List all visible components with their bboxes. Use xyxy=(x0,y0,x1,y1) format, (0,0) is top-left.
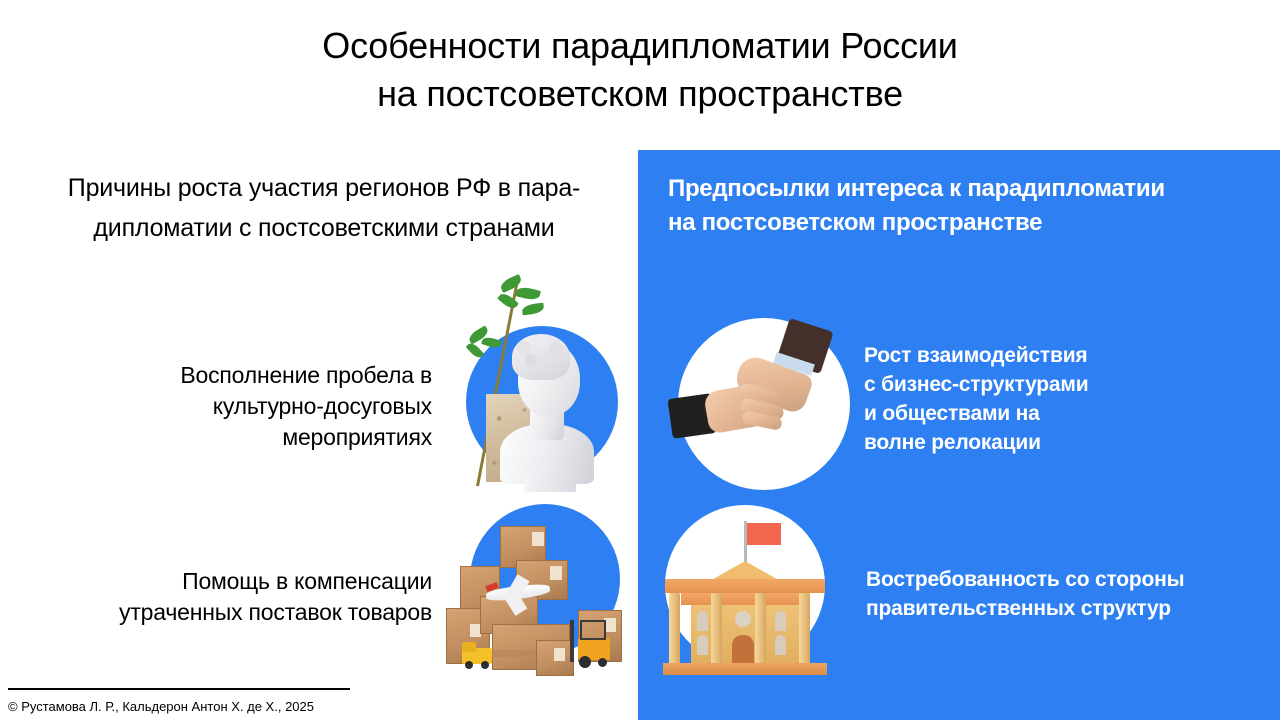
building-column-icon xyxy=(799,593,810,665)
left-item-2-line-2: утраченных поставок товаров xyxy=(40,597,432,628)
building-window-icon xyxy=(697,635,708,655)
left-item-1-line-3: мероприятиях xyxy=(60,422,432,453)
building-window-icon xyxy=(697,611,708,631)
left-column-heading: Причины роста участия регионов РФ в пара… xyxy=(28,168,620,248)
plant-leaf-icon xyxy=(521,303,544,316)
plant-leaf-icon xyxy=(515,285,541,301)
building-base-icon xyxy=(663,663,827,675)
truck-cab-icon xyxy=(462,642,476,652)
cardboard-boxes-icon xyxy=(438,498,628,686)
left-item-1-line-1: Восполнение пробела в xyxy=(60,360,432,391)
building-column-icon xyxy=(755,593,766,665)
left-item-1-line-2: культурно-досуговых xyxy=(60,391,432,422)
building-window-icon xyxy=(775,635,786,655)
building-column-icon xyxy=(669,593,680,665)
left-item-2-label: Помощь в компенсации утраченных поставок… xyxy=(40,566,432,628)
forklift-cage-icon xyxy=(580,620,606,640)
slide-title: Особенности парадипломатии России на пос… xyxy=(0,22,1280,118)
handshake-icon xyxy=(678,318,850,490)
forklift-wheel-icon xyxy=(579,656,591,668)
forklift-mast-icon xyxy=(570,620,574,662)
right-item-2-line-1: Востребованность со стороны xyxy=(866,565,1246,594)
classical-bust-statue-icon xyxy=(438,268,628,493)
right-panel-heading-line-2: на постсоветском пространстве xyxy=(668,206,1258,240)
footer-copyright: © Рустамова Л. Р., Кальдерон Антон Х. де… xyxy=(8,698,314,716)
red-flag-icon xyxy=(747,523,781,545)
right-item-1-line-2: с бизнес-структурами xyxy=(864,370,1194,399)
box-label-icon xyxy=(554,648,565,661)
right-item-1-label: Рост взаимодействия с бизнес-структурами… xyxy=(864,341,1194,457)
right-item-1-line-1: Рост взаимодействия xyxy=(864,341,1194,370)
slide-canvas: Особенности парадипломатии России на пос… xyxy=(0,0,1280,720)
left-item-1-label: Восполнение пробела в культурно-досуговы… xyxy=(60,360,432,453)
right-item-1-line-4: волне релокации xyxy=(864,428,1194,457)
building-entablature-icon xyxy=(681,593,809,605)
box-label-icon xyxy=(550,566,562,580)
left-column-heading-line-2: дипломатии с постсоветскими странами xyxy=(28,208,620,248)
left-item-2-line-1: Помощь в компенсации xyxy=(40,566,432,597)
truck-wheel-icon xyxy=(465,661,473,669)
right-item-2-line-2: правительственных структур xyxy=(866,594,1246,623)
footer-divider xyxy=(8,688,350,690)
right-item-1-line-3: и обществами на xyxy=(864,399,1194,428)
government-building-icon xyxy=(645,505,845,680)
slide-title-line-2: на постсоветском пространстве xyxy=(0,70,1280,118)
right-panel-heading: Предпосылки интереса к парадипломатии на… xyxy=(668,172,1258,240)
forklift-wheel-icon xyxy=(598,658,607,667)
box-label-icon xyxy=(532,532,544,546)
right-item-2-label: Востребованность со стороны правительств… xyxy=(866,565,1246,623)
slide-title-line-1: Особенности парадипломатии России xyxy=(0,22,1280,70)
building-clock-icon xyxy=(735,611,751,627)
building-portico-roof-icon xyxy=(665,579,825,593)
building-window-icon xyxy=(775,611,786,631)
right-panel-heading-line-1: Предпосылки интереса к парадипломатии xyxy=(668,172,1258,206)
left-column-heading-line-1: Причины роста участия регионов РФ в пара… xyxy=(28,168,620,208)
building-column-icon xyxy=(711,593,722,665)
truck-wheel-icon xyxy=(481,661,489,669)
bust-pedestal-icon xyxy=(524,474,576,492)
bust-hair-icon xyxy=(512,334,570,380)
